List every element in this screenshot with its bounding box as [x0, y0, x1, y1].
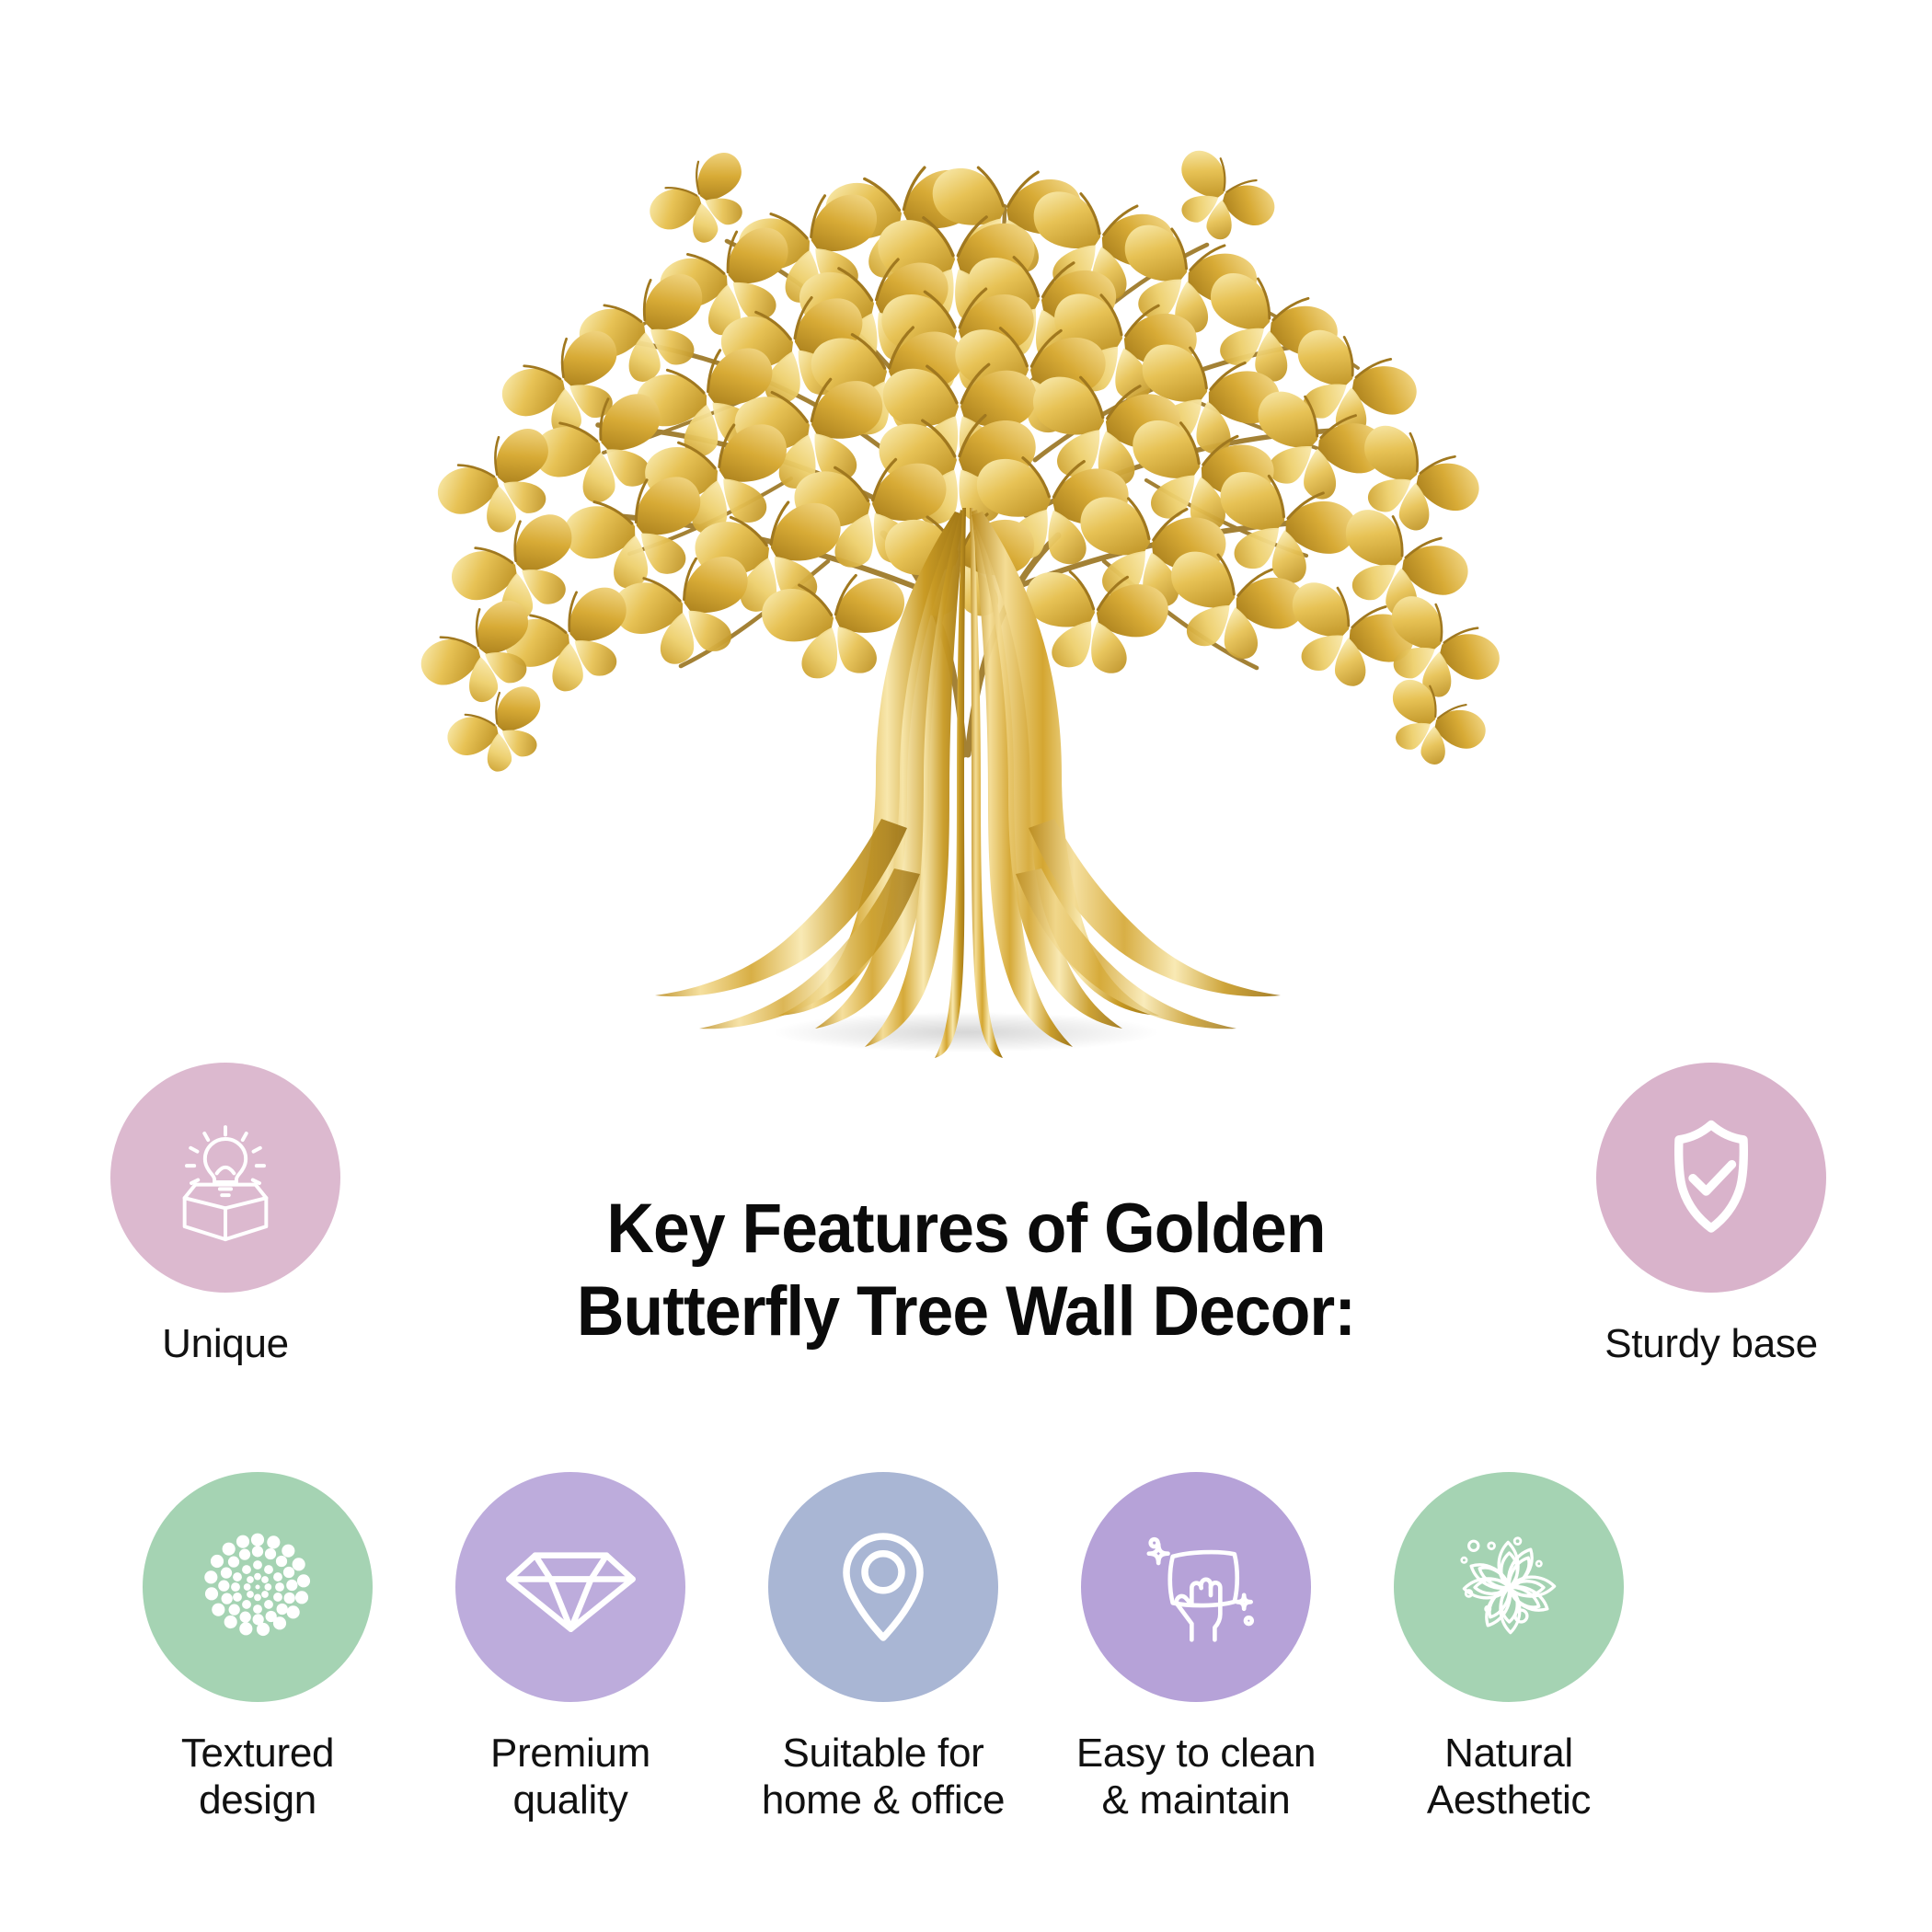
feature-sturdy-base-label: Sturdy base — [1555, 1320, 1868, 1367]
feature-sturdy-base-circle — [1596, 1063, 1826, 1293]
radial-dot-pattern-icon — [184, 1513, 331, 1661]
features-top-row: Unique Sturdy base — [0, 1063, 1932, 1431]
feature-natural-aesthetic[interactable]: Natural Aesthetic — [1352, 1472, 1665, 1823]
feature-easy-clean-circle — [1081, 1472, 1311, 1702]
feature-textured-design[interactable]: Textured design — [101, 1472, 414, 1823]
feature-natural-aesthetic-circle — [1394, 1472, 1624, 1702]
feature-sturdy-base[interactable]: Sturdy base — [1555, 1063, 1868, 1367]
product-hero-image — [0, 0, 1932, 1067]
feature-premium-quality-circle — [455, 1472, 685, 1702]
feature-textured-design-label: Textured design — [101, 1730, 414, 1823]
features-bottom-row: Textured design Premium quality Suitable… — [0, 1472, 1932, 1904]
lightbulb-in-box-icon — [161, 1113, 290, 1242]
diamond-icon — [500, 1516, 642, 1659]
golden-butterfly-tree-illustration — [0, 0, 1932, 1067]
feature-suitable-location-circle — [768, 1472, 998, 1702]
shield-check-icon — [1642, 1109, 1780, 1247]
feature-easy-clean-label: Easy to clean & maintain — [1040, 1730, 1352, 1823]
feature-unique-circle — [110, 1063, 340, 1293]
feature-easy-clean[interactable]: Easy to clean & maintain — [1040, 1472, 1352, 1823]
feature-premium-quality[interactable]: Premium quality — [414, 1472, 727, 1823]
feature-premium-quality-label: Premium quality — [414, 1730, 727, 1823]
feature-unique-label: Unique — [69, 1320, 382, 1367]
feature-suitable-location[interactable]: Suitable for home & office — [727, 1472, 1040, 1823]
lotus-flower-icon — [1438, 1516, 1581, 1659]
feature-suitable-location-label: Suitable for home & office — [727, 1730, 1040, 1823]
hand-wiping-cloth-icon — [1125, 1516, 1268, 1659]
feature-natural-aesthetic-label: Natural Aesthetic — [1352, 1730, 1665, 1823]
location-pin-icon — [814, 1518, 952, 1656]
feature-unique[interactable]: Unique — [69, 1063, 382, 1367]
feature-textured-design-circle — [143, 1472, 373, 1702]
